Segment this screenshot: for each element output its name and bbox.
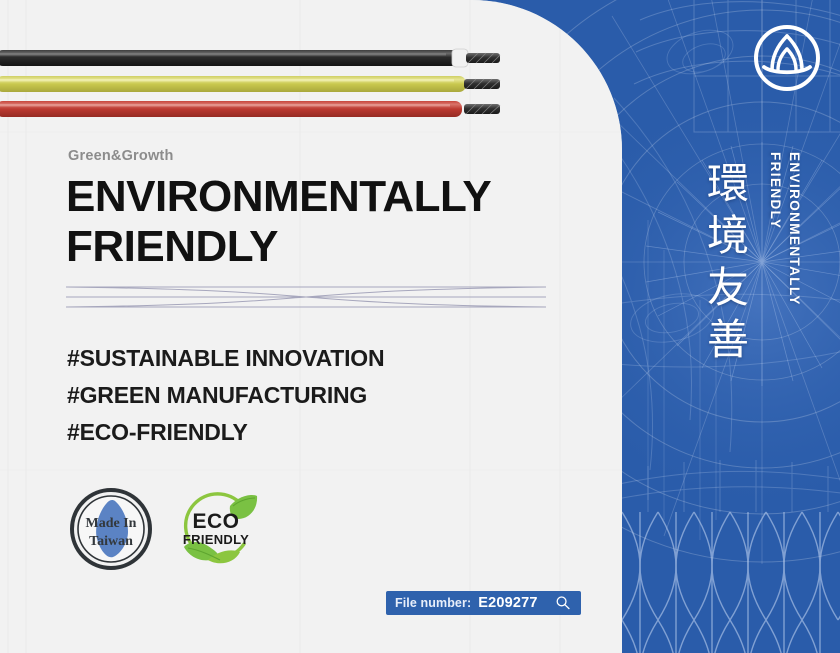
- file-number-label: File number:: [395, 596, 471, 610]
- headline-line-1: ENVIRONMENTALLY: [66, 172, 566, 222]
- poster-canvas: 環境友善 ENVIRONMENTALLY FRIENDLY: [0, 0, 840, 653]
- headline-line-2: FRIENDLY: [66, 222, 566, 272]
- red-cable: [0, 101, 500, 117]
- eco-line-2: FRIENDLY: [183, 532, 249, 547]
- chinese-vertical-title: 環境友善: [704, 158, 752, 366]
- english-vertical-line-2: FRIENDLY: [768, 152, 783, 229]
- tagline-item: #GREEN MANUFACTURING: [67, 377, 547, 414]
- cable-product-image: [0, 24, 520, 124]
- made-in-taiwan-line-1: Made In: [86, 516, 137, 531]
- tagline-item: #ECO-FRIENDLY: [67, 414, 547, 451]
- tagline-item: #SUSTAINABLE INNOVATION: [67, 340, 547, 377]
- eco-friendly-badge-icon: ECO FRIENDLY: [178, 486, 260, 572]
- file-number-badge[interactable]: File number: E209277: [386, 591, 581, 615]
- made-in-taiwan-badge-icon: Made In Taiwan: [66, 484, 156, 574]
- tagline-list: #SUSTAINABLE INNOVATION #GREEN MANUFACTU…: [67, 340, 547, 451]
- black-cable: [0, 49, 500, 67]
- english-vertical-line-1: ENVIRONMENTALLY: [787, 152, 802, 306]
- content-card: Green&Growth ENVIRONMENTALLY FRIENDLY #S…: [0, 0, 622, 653]
- file-number-value: E209277: [478, 595, 537, 611]
- certification-badges: Made In Taiwan ECO FRIENDLY: [66, 484, 260, 574]
- yellow-cable: [0, 76, 500, 92]
- circular-arcs-logo-icon: [751, 22, 823, 94]
- magnifier-icon[interactable]: [555, 595, 571, 611]
- decorative-divider: [66, 278, 546, 316]
- eco-line-1: ECO: [192, 510, 239, 533]
- eyebrow-label: Green&Growth: [68, 148, 174, 164]
- page-title: ENVIRONMENTALLY FRIENDLY: [66, 172, 566, 272]
- made-in-taiwan-line-2: Taiwan: [89, 534, 133, 549]
